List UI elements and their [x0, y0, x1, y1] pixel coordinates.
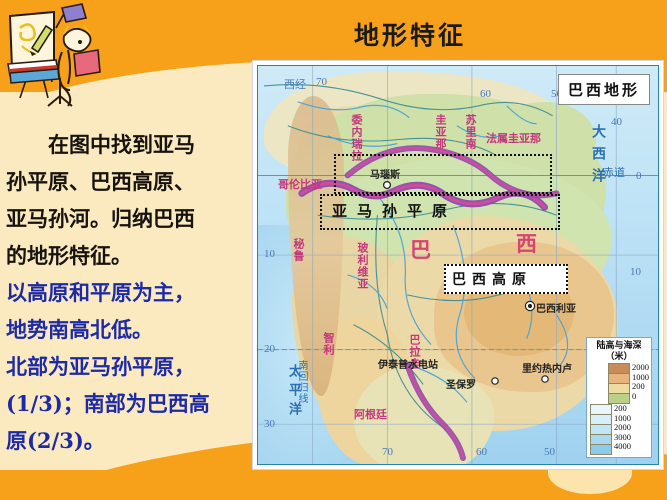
atlantic-ocean-label: 大西洋 [588, 124, 608, 234]
country-label-chile: 智利 [320, 332, 336, 394]
legend-swatch-land-200 [608, 383, 630, 393]
map-frame: 西经 70 60 50 40 10 20 30 0 10 20 30 70 60… [257, 65, 659, 465]
legend-value-sea-4000: 4000 [614, 442, 631, 452]
tick-bottom-60: 60 [476, 446, 487, 458]
capital-marker-brasilia [524, 300, 536, 312]
legend-swatch-sea-1000 [590, 414, 612, 424]
legend-swatch-land-2000 [608, 363, 630, 373]
legend-sea-group: 200 1000 2000 3000 4000 [590, 404, 648, 455]
brazil-label-char-2: 西 [516, 228, 537, 258]
answer-line-1: 以高原和平原为主， [6, 274, 250, 311]
lesson-text-block: 在图中找到亚马 孙平原、巴西高原、 亚马孙河。归纳巴西 的地形特征。 以高原和平… [6, 126, 250, 459]
brazil-label-char-1: 巴 [410, 234, 431, 264]
tick-bottom-70: 70 [382, 446, 393, 458]
legend-land-group: 2000 1000 200 0 [608, 363, 648, 404]
country-label-bolivia: 玻利维亚 [354, 242, 370, 320]
brazil-topography-map[interactable]: 西经 70 60 50 40 10 20 30 0 10 20 30 70 60… [252, 60, 664, 470]
legend-swatch-sea-4000 [590, 444, 612, 455]
tick-right-10: 10 [630, 266, 641, 278]
city-label-rio-de-janeiro: 里约热内卢 [522, 360, 572, 375]
answer-line-3: 北部为亚马孙平原， [6, 348, 250, 385]
map-legend: 陆高与海深 （米） 2000 1000 200 0 [586, 337, 652, 458]
city-marker-sao-paulo [490, 376, 500, 386]
tick-top-70: 70 [316, 76, 327, 88]
legend-swatch-sea-200 [590, 404, 612, 414]
city-marker-rio-de-janeiro [540, 374, 550, 384]
slide-canvas: 地形特征 在图中找到亚马 孙平原、巴西高原、 亚马孙河。归纳巴西 的地形特征。 … [0, 0, 667, 500]
feature-label-itaipu-dam: 伊泰普水电站 [378, 356, 438, 371]
tick-left-20: 20 [264, 343, 275, 355]
annotation-amazon-plain: 亚马孙平原 [332, 200, 457, 221]
legend-swatch-land-1000 [608, 373, 630, 383]
easel-artist-icon [2, 2, 110, 108]
legend-value-land-0: 0 [632, 392, 649, 402]
legend-sea-swatches [590, 404, 612, 455]
legend-title: 陆高与海深 [590, 341, 648, 352]
country-label-french-guiana: 法属圭亚那 [486, 130, 541, 146]
answer-line-5: 原(2/3)。 [6, 422, 250, 459]
legend-land-values: 2000 1000 200 0 [630, 363, 649, 404]
tick-left-30: 30 [264, 418, 275, 430]
legend-sea-values: 200 1000 2000 3000 4000 [612, 404, 631, 455]
tick-west-longitude: 西经 [284, 76, 306, 92]
question-line-1: 在图中找到亚马 [6, 126, 250, 163]
tick-top-60: 60 [480, 88, 491, 100]
legend-swatch-sea-3000 [590, 434, 612, 444]
answer-line-4: (1/3)；南部为巴西高 [6, 385, 250, 422]
legend-swatch-sea-2000 [590, 424, 612, 434]
tick-right-0: 0 [636, 170, 642, 182]
tick-left-10: 10 [264, 248, 275, 260]
country-label-colombia: 哥伦比亚 [278, 176, 322, 192]
answer-line-2: 地势南高北低。 [6, 311, 250, 348]
tick-top-40: 40 [611, 116, 622, 128]
country-label-argentina: 阿根廷 [354, 406, 387, 422]
question-line-3: 亚马孙河。归纳巴西 [6, 200, 250, 237]
annotation-brazil-highlands: 巴西高原 [452, 269, 532, 289]
legend-land-swatches [608, 363, 630, 404]
country-label-peru: 秘鲁 [290, 238, 306, 270]
page-title: 地形特征 [260, 16, 560, 52]
question-line-2: 孙平原、巴西高原、 [6, 163, 250, 200]
city-label-brasilia: 巴西利亚 [536, 300, 576, 315]
pacific-ocean-label: 太平洋 [284, 364, 303, 454]
map-title-box: 巴西地形 [558, 74, 650, 105]
tick-bottom-50: 50 [544, 446, 555, 458]
city-label-sao-paulo: 圣保罗 [446, 376, 476, 391]
annotation-box-manaus-region [334, 154, 552, 194]
question-line-4: 的地形特征。 [6, 237, 250, 274]
